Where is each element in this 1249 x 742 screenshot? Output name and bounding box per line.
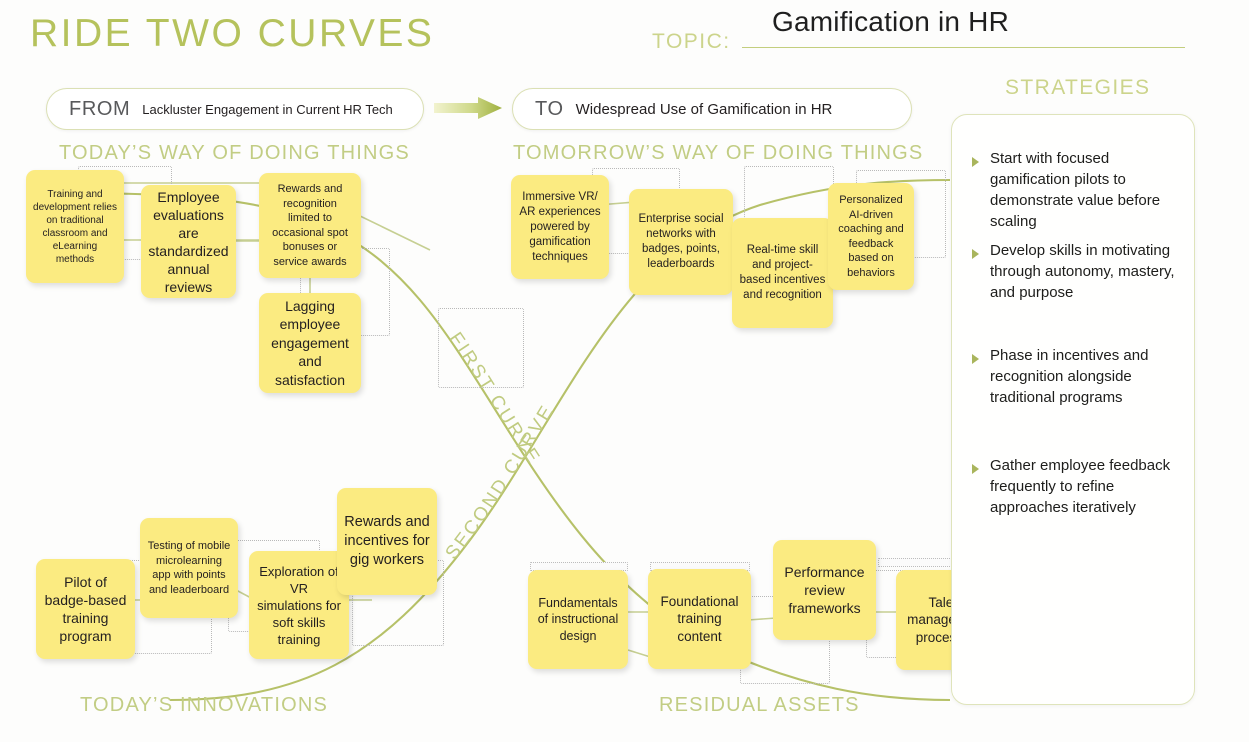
board-title: RIDE TWO CURVES xyxy=(30,12,434,56)
caption-residual-assets: RESIDUAL ASSETS xyxy=(659,694,860,717)
sticky-note-text: Exploration of VR simulations for soft s… xyxy=(256,563,342,648)
strategies-title: STRATEGIES xyxy=(1005,76,1150,100)
sticky-note[interactable]: Foundational training content xyxy=(648,569,751,669)
strategy-item[interactable]: Develop skills in motivating through aut… xyxy=(972,240,1180,303)
sticky-note-text: Rewards and incentives for gig workers xyxy=(344,513,430,570)
strategy-item[interactable]: Gather employee feedback frequently to r… xyxy=(972,455,1180,518)
sticky-note-text: Training and development relies on tradi… xyxy=(33,188,117,266)
strategy-text: Phase in incentives and recognition alon… xyxy=(990,345,1180,408)
sticky-note[interactable]: Employee evaluations are standardized an… xyxy=(141,185,236,298)
topic-value[interactable]: Gamification in HR xyxy=(772,6,1009,38)
bullet-triangle-icon xyxy=(972,464,979,474)
from-tag: FROM xyxy=(47,98,142,121)
arrow-right-icon xyxy=(434,97,504,119)
sticky-note[interactable]: Personalized AI-driven coaching and feed… xyxy=(828,183,914,290)
sticky-note-text: Immersive VR/ AR experiences powered by … xyxy=(518,190,602,265)
sticky-note-text: Rewards and recognition limited to occas… xyxy=(266,182,354,269)
to-pill[interactable]: TO Widespread Use of Gamification in HR xyxy=(512,88,912,130)
sticky-note-text: Pilot of badge-based training program xyxy=(43,573,128,645)
sticky-note-text: Employee evaluations are standardized an… xyxy=(148,188,229,296)
caption-today: TODAY’S WAY OF DOING THINGS xyxy=(59,142,410,165)
sticky-note[interactable]: Training and development relies on tradi… xyxy=(26,170,124,283)
bullet-triangle-icon xyxy=(972,354,979,364)
strategies-panel: Start with focused gamification pilots t… xyxy=(951,114,1195,705)
strategy-item[interactable]: Start with focused gamification pilots t… xyxy=(972,148,1180,232)
sticky-note-text: Real-time skill and project-based incent… xyxy=(739,243,826,303)
strategy-text: Develop skills in motivating through aut… xyxy=(990,240,1180,303)
sticky-note[interactable]: Immersive VR/ AR experiences powered by … xyxy=(511,175,609,279)
sticky-note-text: Foundational training content xyxy=(655,593,744,646)
sticky-note[interactable]: Enterprise social networks with badges, … xyxy=(629,189,733,295)
sticky-note[interactable]: Lagging employee engagement and satisfac… xyxy=(259,293,361,393)
from-pill[interactable]: FROM Lackluster Engagement in Current HR… xyxy=(46,88,424,130)
bullet-triangle-icon xyxy=(972,157,979,167)
caption-tomorrow: TOMORROW’S WAY OF DOING THINGS xyxy=(513,142,923,165)
sticky-note[interactable]: Rewards and incentives for gig workers xyxy=(337,488,437,595)
strategy-item[interactable]: Phase in incentives and recognition alon… xyxy=(972,345,1180,408)
sticky-note-text: Lagging employee engagement and satisfac… xyxy=(266,297,354,390)
sticky-note[interactable]: Exploration of VR simulations for soft s… xyxy=(249,551,349,659)
sticky-note[interactable]: Rewards and recognition limited to occas… xyxy=(259,173,361,278)
sticky-note-text: Performance review frameworks xyxy=(780,563,869,617)
sticky-note[interactable]: Pilot of badge-based training program xyxy=(36,559,135,659)
sticky-note-text: Enterprise social networks with badges, … xyxy=(636,212,726,272)
sticky-note-text: Personalized AI-driven coaching and feed… xyxy=(835,193,907,280)
bullet-triangle-icon xyxy=(972,249,979,259)
sticky-note[interactable]: Testing of mobile microlearning app with… xyxy=(140,518,238,618)
sticky-note[interactable]: Performance review frameworks xyxy=(773,540,876,640)
strategy-text: Start with focused gamification pilots t… xyxy=(990,148,1180,232)
topic-label: TOPIC: xyxy=(652,30,731,54)
second-curve-label: SECOND CURVE xyxy=(442,401,559,564)
whiteboard-canvas: FIRST CURVE SECOND CURVE xyxy=(0,0,1249,742)
strategy-text: Gather employee feedback frequently to r… xyxy=(990,455,1180,518)
sticky-note[interactable]: Fundamentals of instructional design xyxy=(528,570,628,669)
ghost-note xyxy=(438,308,524,388)
to-value[interactable]: Widespread Use of Gamification in HR xyxy=(576,101,833,118)
sticky-note-text: Fundamentals of instructional design xyxy=(535,595,621,645)
sticky-note-text: Testing of mobile microlearning app with… xyxy=(147,539,231,597)
sticky-note[interactable]: Real-time skill and project-based incent… xyxy=(732,218,833,328)
from-value[interactable]: Lackluster Engagement in Current HR Tech xyxy=(142,102,393,117)
caption-todays-innovations: TODAY’S INNOVATIONS xyxy=(80,694,328,717)
to-tag: TO xyxy=(513,98,576,121)
topic-underline xyxy=(742,47,1185,48)
